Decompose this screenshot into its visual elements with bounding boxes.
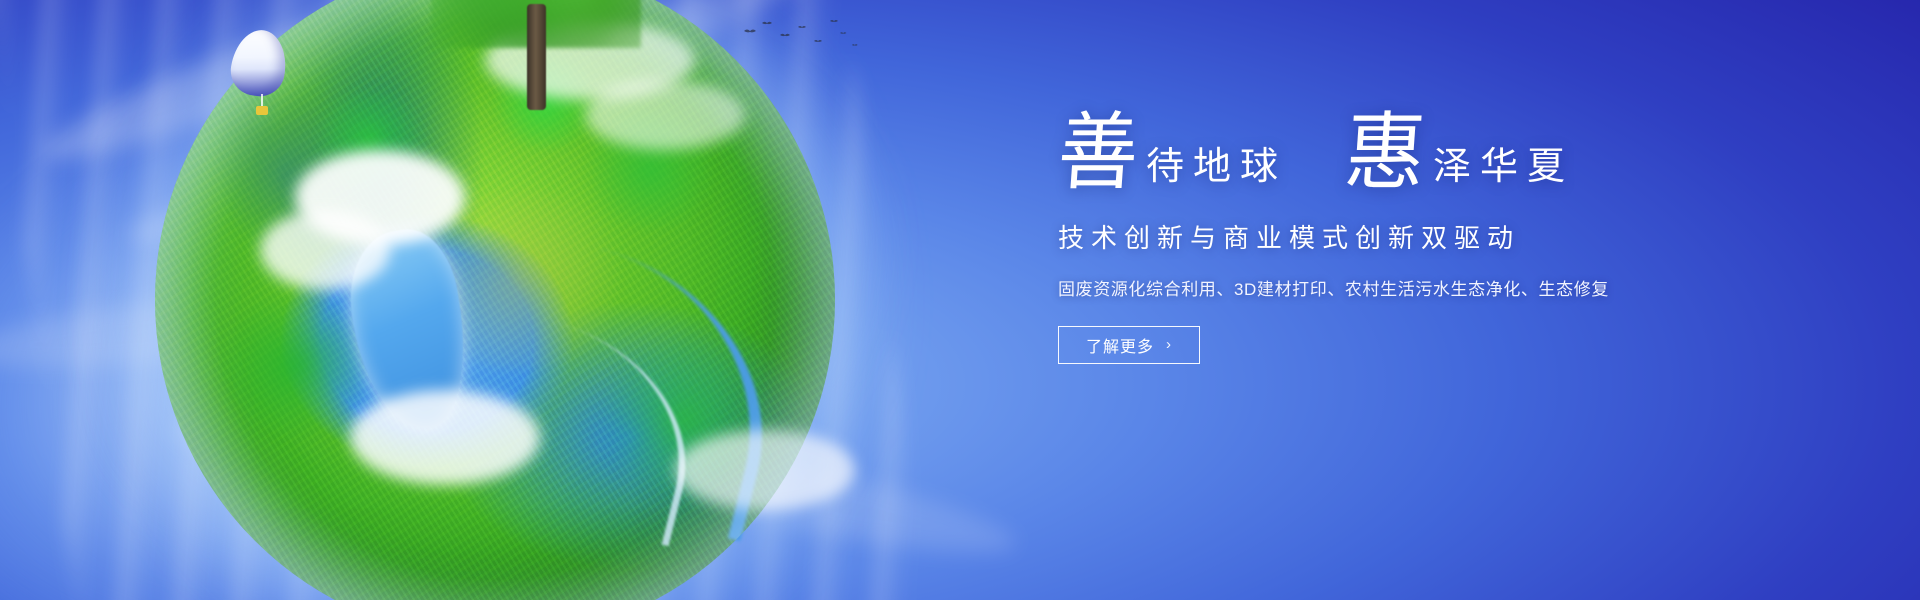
page-title: 善 待地球 惠 泽华夏: [1058, 118, 1758, 192]
chevron-right-icon: ›: [1166, 337, 1172, 352]
headline-phrase-2: 惠 泽华夏: [1345, 118, 1574, 192]
hero-banner: 善 待地球 惠 泽华夏 技术创新与商业模式创新双驱动 固废资源化综合利用、3D建…: [0, 0, 1920, 600]
bird-flock-icon: [740, 15, 860, 55]
learn-more-label: 了解更多: [1086, 333, 1154, 357]
hero-subtitle: 技术创新与商业模式创新双驱动: [1058, 218, 1758, 255]
headline-lead-char-2: 惠: [1342, 116, 1427, 194]
headline-rest-2: 泽华夏: [1433, 148, 1574, 192]
globe-image: [155, 0, 835, 600]
headline-lead-char-1: 善: [1055, 116, 1140, 194]
headline-rest-1: 待地球: [1146, 148, 1287, 192]
hero-description: 固废资源化综合利用、3D建材打印、农村生活污水生态净化、生态修复: [1058, 275, 1758, 300]
hero-content: 善 待地球 惠 泽华夏 技术创新与商业模式创新双驱动 固废资源化综合利用、3D建…: [1058, 118, 1758, 364]
learn-more-button[interactable]: 了解更多 ›: [1058, 326, 1200, 364]
headline-phrase-1: 善 待地球: [1058, 118, 1287, 192]
